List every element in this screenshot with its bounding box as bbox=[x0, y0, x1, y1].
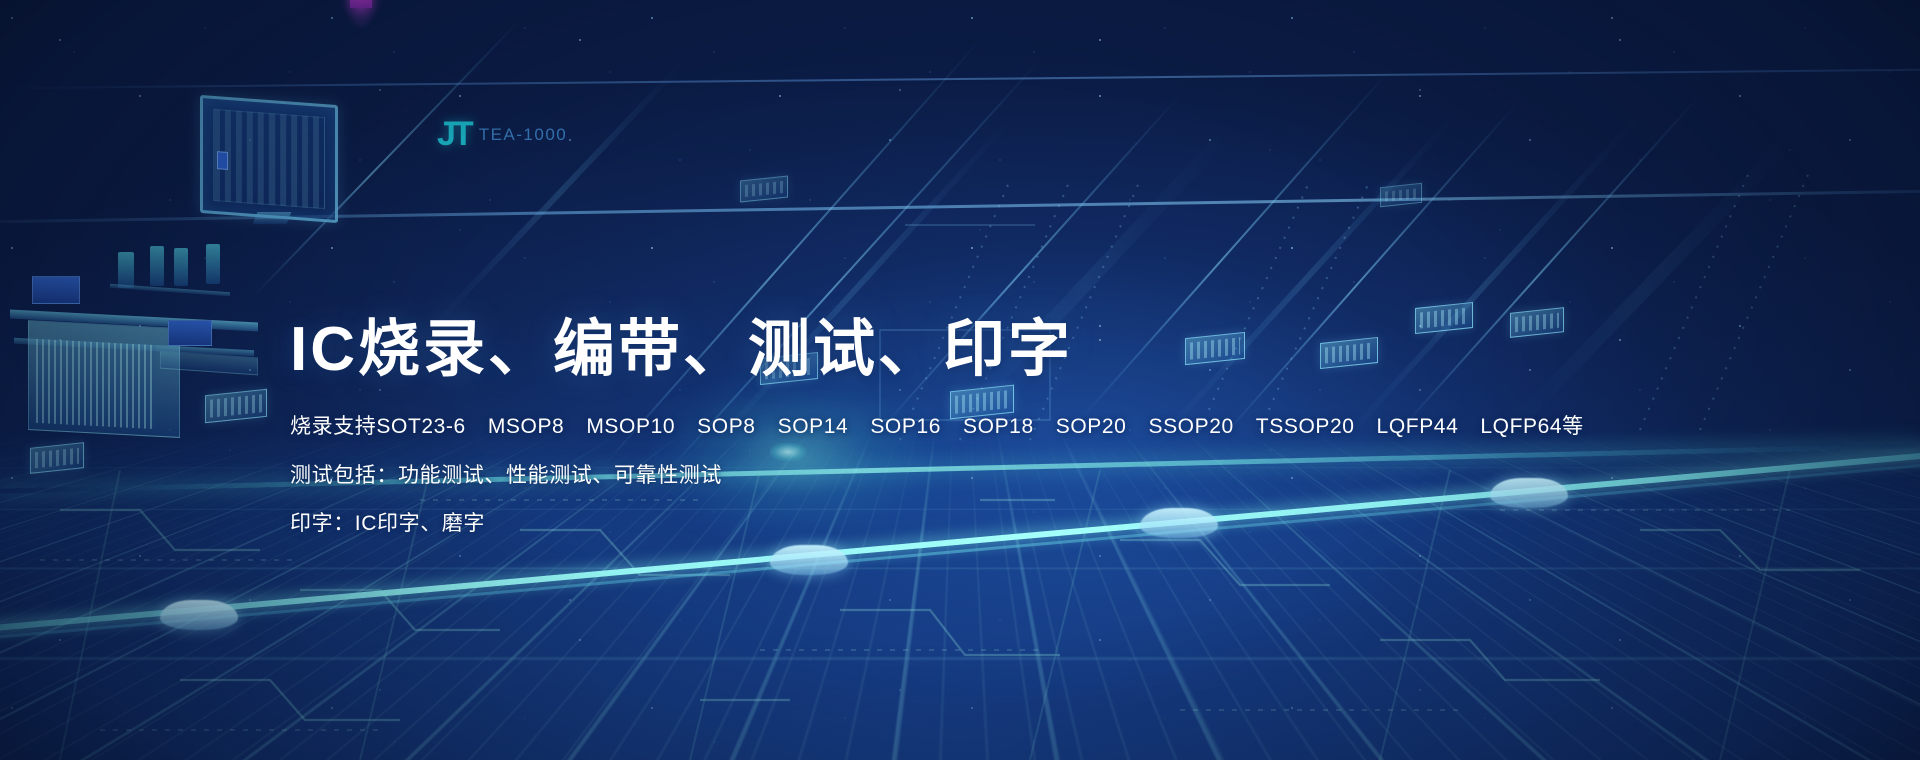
package-item: LQFP64等 bbox=[1480, 415, 1583, 438]
hero-banner: JT TEA-1000 IC烧录、编带、测试、印字 烧录支持SOT23-6MSO… bbox=[0, 0, 1920, 760]
package-item: MSOP8 bbox=[488, 415, 565, 438]
monitor-chip-indicator bbox=[217, 151, 228, 170]
package-item: TSSOP20 bbox=[1256, 415, 1355, 438]
subtitle-test-scope: 测试包括：功能测试、性能测试、可靠性测试 bbox=[290, 465, 1590, 486]
chip-tray bbox=[205, 389, 267, 424]
page-title: IC烧录、编带、测试、印字 bbox=[290, 318, 1590, 382]
package-item: SOP20 bbox=[1056, 415, 1127, 438]
chip-tray bbox=[740, 175, 788, 202]
rail-roller bbox=[770, 545, 848, 575]
equipment-model-label: TEA-1000 bbox=[479, 126, 568, 143]
package-item: MSOP10 bbox=[586, 415, 675, 438]
machinery-silhouette bbox=[10, 258, 270, 448]
package-item: SOP16 bbox=[870, 415, 941, 438]
top-marker bbox=[350, 0, 372, 8]
package-item: SOP18 bbox=[963, 415, 1034, 438]
jt-logo-mark: JT bbox=[437, 117, 471, 151]
package-item: SOP14 bbox=[778, 415, 849, 438]
banner-copy: IC烧录、编带、测试、印字 烧录支持SOT23-6MSOP8MSOP10SOP8… bbox=[290, 318, 1590, 534]
subtitle-burn-support: 烧录支持SOT23-6MSOP8MSOP10SOP8SOP14SOP16SOP1… bbox=[290, 416, 1590, 437]
ceiling-beam-upper bbox=[0, 69, 1920, 89]
burn-support-lead: 烧录支持SOT23-6 bbox=[290, 415, 466, 438]
package-item: SSOP20 bbox=[1148, 415, 1233, 438]
monitor-stand bbox=[253, 212, 292, 224]
package-list: MSOP8MSOP10SOP8SOP14SOP16SOP18SOP20SSOP2… bbox=[466, 415, 1584, 438]
banner-subtitles: 烧录支持SOT23-6MSOP8MSOP10SOP8SOP14SOP16SOP1… bbox=[290, 416, 1590, 534]
rail-roller bbox=[160, 600, 238, 630]
monitor-screen bbox=[200, 95, 338, 223]
package-item: SOP8 bbox=[697, 415, 755, 438]
package-item: LQFP44 bbox=[1377, 415, 1459, 438]
chip-tray bbox=[1380, 183, 1422, 207]
monitor-screen-content bbox=[213, 109, 325, 209]
subtitle-marking-scope: 印字：IC印字、磨字 bbox=[290, 513, 1590, 534]
equipment-logo: JT TEA-1000 bbox=[437, 117, 567, 151]
